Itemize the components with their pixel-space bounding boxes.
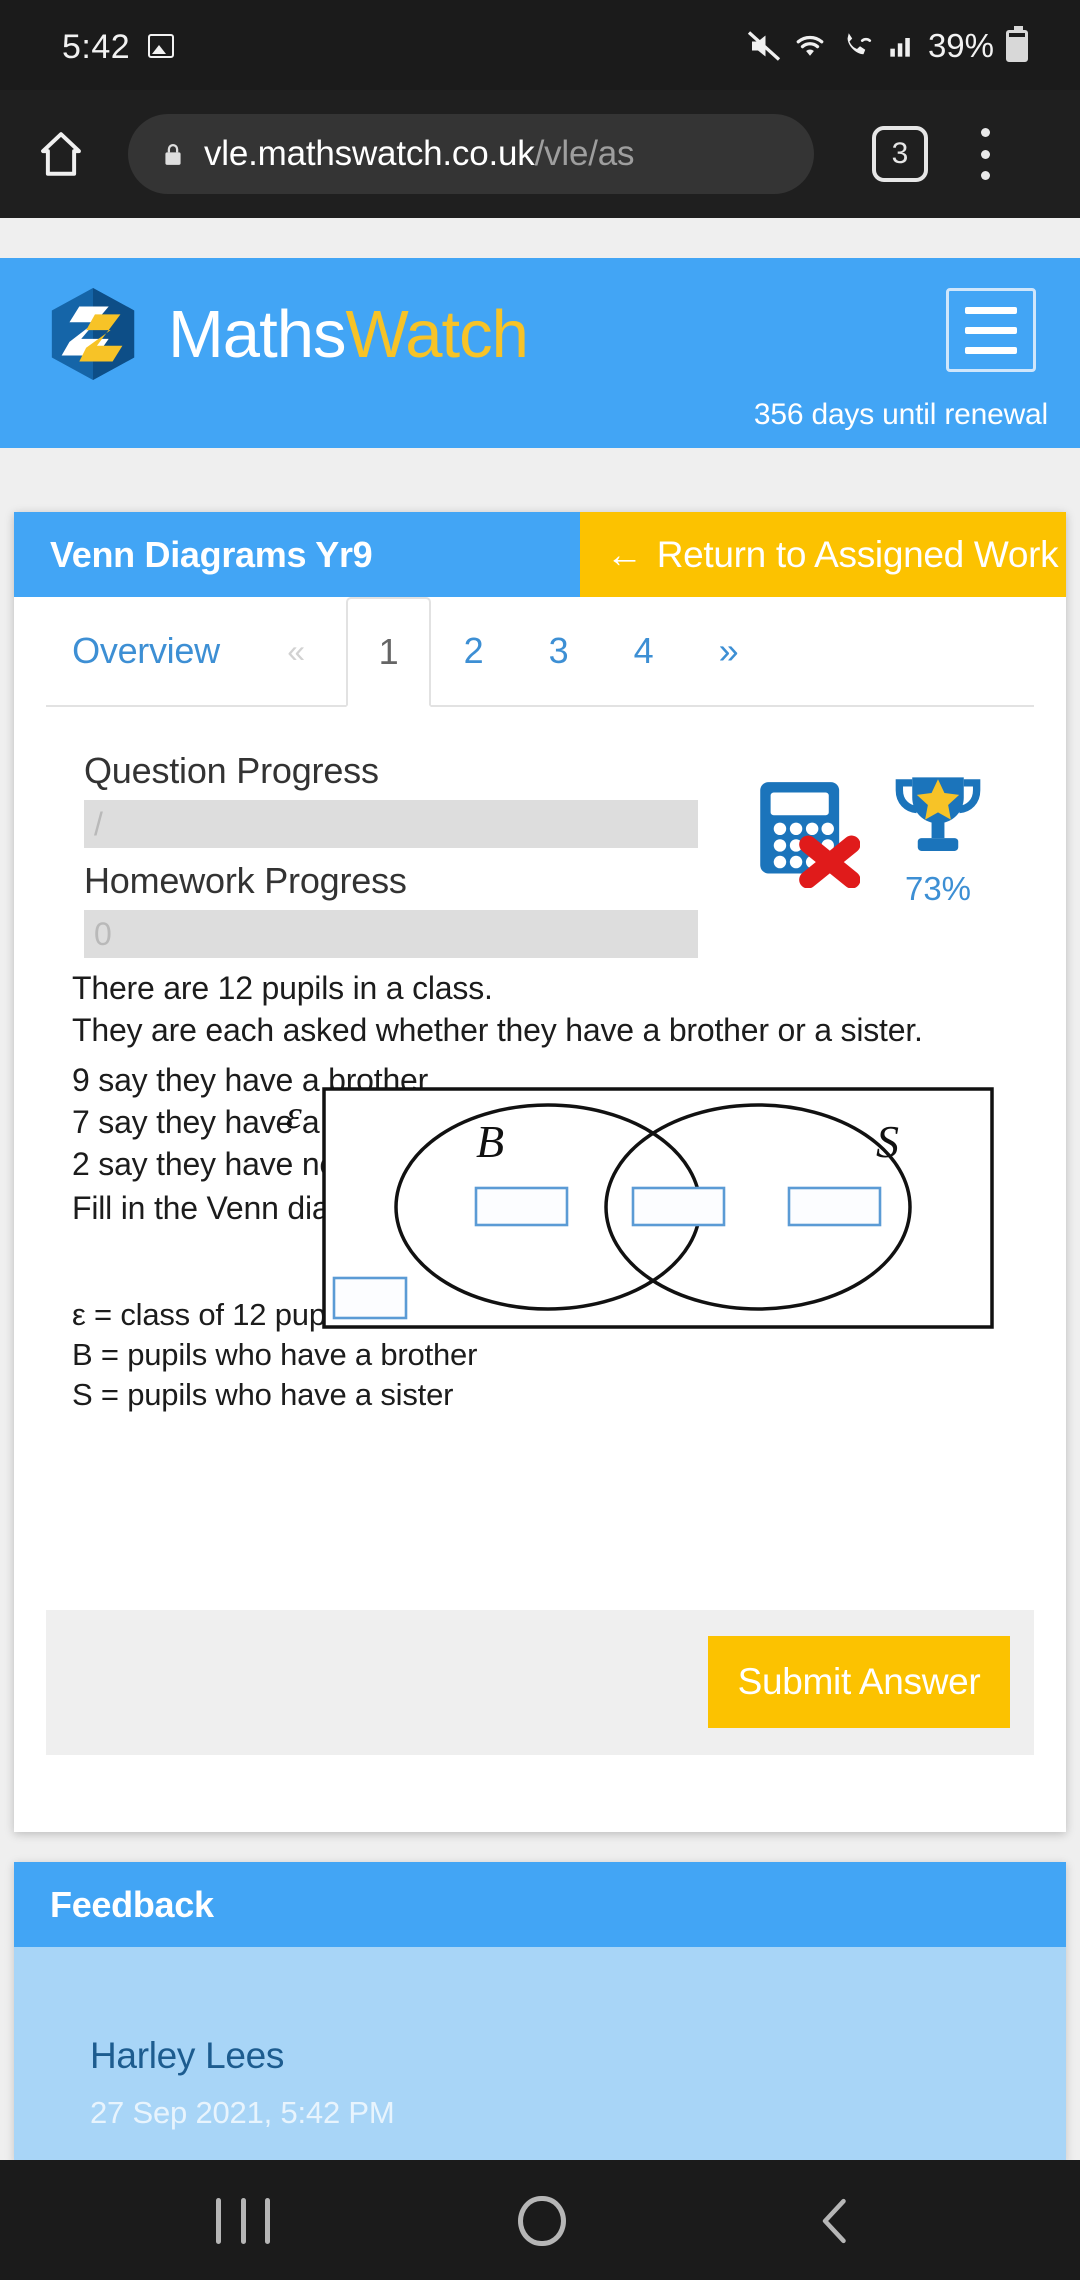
logo-text-watch: Watch xyxy=(345,297,527,372)
battery-charging-icon xyxy=(1006,30,1028,62)
signal-icon xyxy=(885,28,917,64)
tab-switcher-button[interactable]: 3 xyxy=(872,126,928,182)
url-domain: vle.mathswatch.co.uk xyxy=(204,134,535,173)
homework-progress-bar: 0 xyxy=(84,910,698,958)
kebab-menu-icon[interactable] xyxy=(980,128,990,180)
status-clock: 5:42 xyxy=(62,28,130,67)
homework-progress-value: 0 xyxy=(94,916,112,953)
tab-2[interactable]: 2 xyxy=(431,597,516,705)
homework-progress-label: Homework Progress xyxy=(84,860,407,902)
question-intro-text: There are 12 pupils in a class. They are… xyxy=(72,967,923,1051)
status-icon-tray: 39% xyxy=(746,24,1028,68)
back-arrow-icon: ← xyxy=(606,536,643,573)
trophy-icon xyxy=(892,770,984,862)
question-body: There are 12 pupils in a class. They are… xyxy=(14,967,1066,1577)
feedback-author: Harley Lees xyxy=(90,2035,284,2077)
tab-prev[interactable]: « xyxy=(246,597,346,705)
mathswatch-logo-icon xyxy=(44,285,142,383)
home-icon[interactable] xyxy=(36,128,86,180)
feedback-title: Feedback xyxy=(14,1862,1066,1947)
question-tabs: Overview « 1 2 3 4 » xyxy=(46,597,1034,707)
mute-icon xyxy=(746,28,782,64)
image-icon xyxy=(148,34,174,58)
venn-universal-label: ε xyxy=(286,1091,302,1138)
call-wifi-icon xyxy=(838,28,876,64)
renewal-notice: 356 days until renewal xyxy=(754,398,1048,432)
tab-1[interactable]: 1 xyxy=(346,597,431,707)
venn-diagram: ε B S xyxy=(286,1085,1006,1335)
question-card-header: Venn Diagrams Yr9 ← Return to Assigned W… xyxy=(14,512,1066,597)
venn-diagram-svg: B S xyxy=(286,1085,1006,1335)
feedback-timestamp: 27 Sep 2021, 5:42 PM xyxy=(90,2095,395,2131)
question-progress-label: Question Progress xyxy=(84,750,379,792)
question-progress-bar: / xyxy=(84,800,698,848)
mathswatch-brand[interactable]: MathsWatch xyxy=(44,285,528,383)
trophy-percent-label: 73% xyxy=(892,870,984,908)
phone-screen: 5:42 39% xyxy=(0,0,1080,2280)
feedback-card: Feedback Harley Lees 27 Sep 2021, 5:42 P… xyxy=(14,1862,1066,2162)
android-nav-bar xyxy=(0,2160,1080,2280)
tab-4[interactable]: 4 xyxy=(601,597,686,705)
hamburger-menu-icon[interactable] xyxy=(946,288,1036,372)
venn-input-s-only[interactable] xyxy=(789,1188,880,1225)
mathswatch-wordmark: MathsWatch xyxy=(168,301,528,368)
wifi-icon xyxy=(791,28,829,64)
url-path: /vle/as xyxy=(535,134,635,173)
calculator-not-allowed-icon xyxy=(756,780,860,888)
tab-count-label: 3 xyxy=(892,137,909,171)
return-button-label: Return to Assigned Work xyxy=(657,534,1059,576)
submit-row: Submit Answer xyxy=(46,1610,1034,1755)
venn-input-intersection[interactable] xyxy=(633,1188,724,1225)
tab-3[interactable]: 3 xyxy=(516,597,601,705)
question-card: Venn Diagrams Yr9 ← Return to Assigned W… xyxy=(14,512,1066,1832)
home-circle-icon[interactable] xyxy=(518,2196,566,2246)
mathswatch-header: MathsWatch 356 days until renewal xyxy=(0,258,1080,448)
lock-icon xyxy=(160,138,186,170)
venn-input-b-only[interactable] xyxy=(476,1188,567,1225)
browser-toolbar: vle.mathswatch.co.uk/vle/as 3 xyxy=(0,90,1080,218)
return-to-assigned-work-button[interactable]: ← Return to Assigned Work xyxy=(580,512,1066,597)
logo-text-maths: Maths xyxy=(168,297,345,372)
back-chevron-icon[interactable] xyxy=(818,2198,852,2244)
question-progress-value: / xyxy=(94,806,103,843)
tab-next[interactable]: » xyxy=(686,597,771,705)
android-status-bar: 5:42 39% xyxy=(0,0,1080,90)
venn-set-s-label: S xyxy=(876,1116,899,1167)
url-omnibox[interactable]: vle.mathswatch.co.uk/vle/as xyxy=(128,114,814,194)
feedback-body: Harley Lees 27 Sep 2021, 5:42 PM xyxy=(14,1947,1066,2162)
venn-input-outside[interactable] xyxy=(334,1278,406,1318)
recents-icon[interactable] xyxy=(216,2198,270,2244)
battery-percent-label: 39% xyxy=(928,27,994,65)
url-text: vle.mathswatch.co.uk/vle/as xyxy=(204,134,634,174)
venn-set-b-label: B xyxy=(476,1116,504,1167)
assignment-title: Venn Diagrams Yr9 xyxy=(14,512,580,597)
submit-answer-button[interactable]: Submit Answer xyxy=(708,1636,1010,1728)
tab-overview[interactable]: Overview xyxy=(46,597,246,705)
